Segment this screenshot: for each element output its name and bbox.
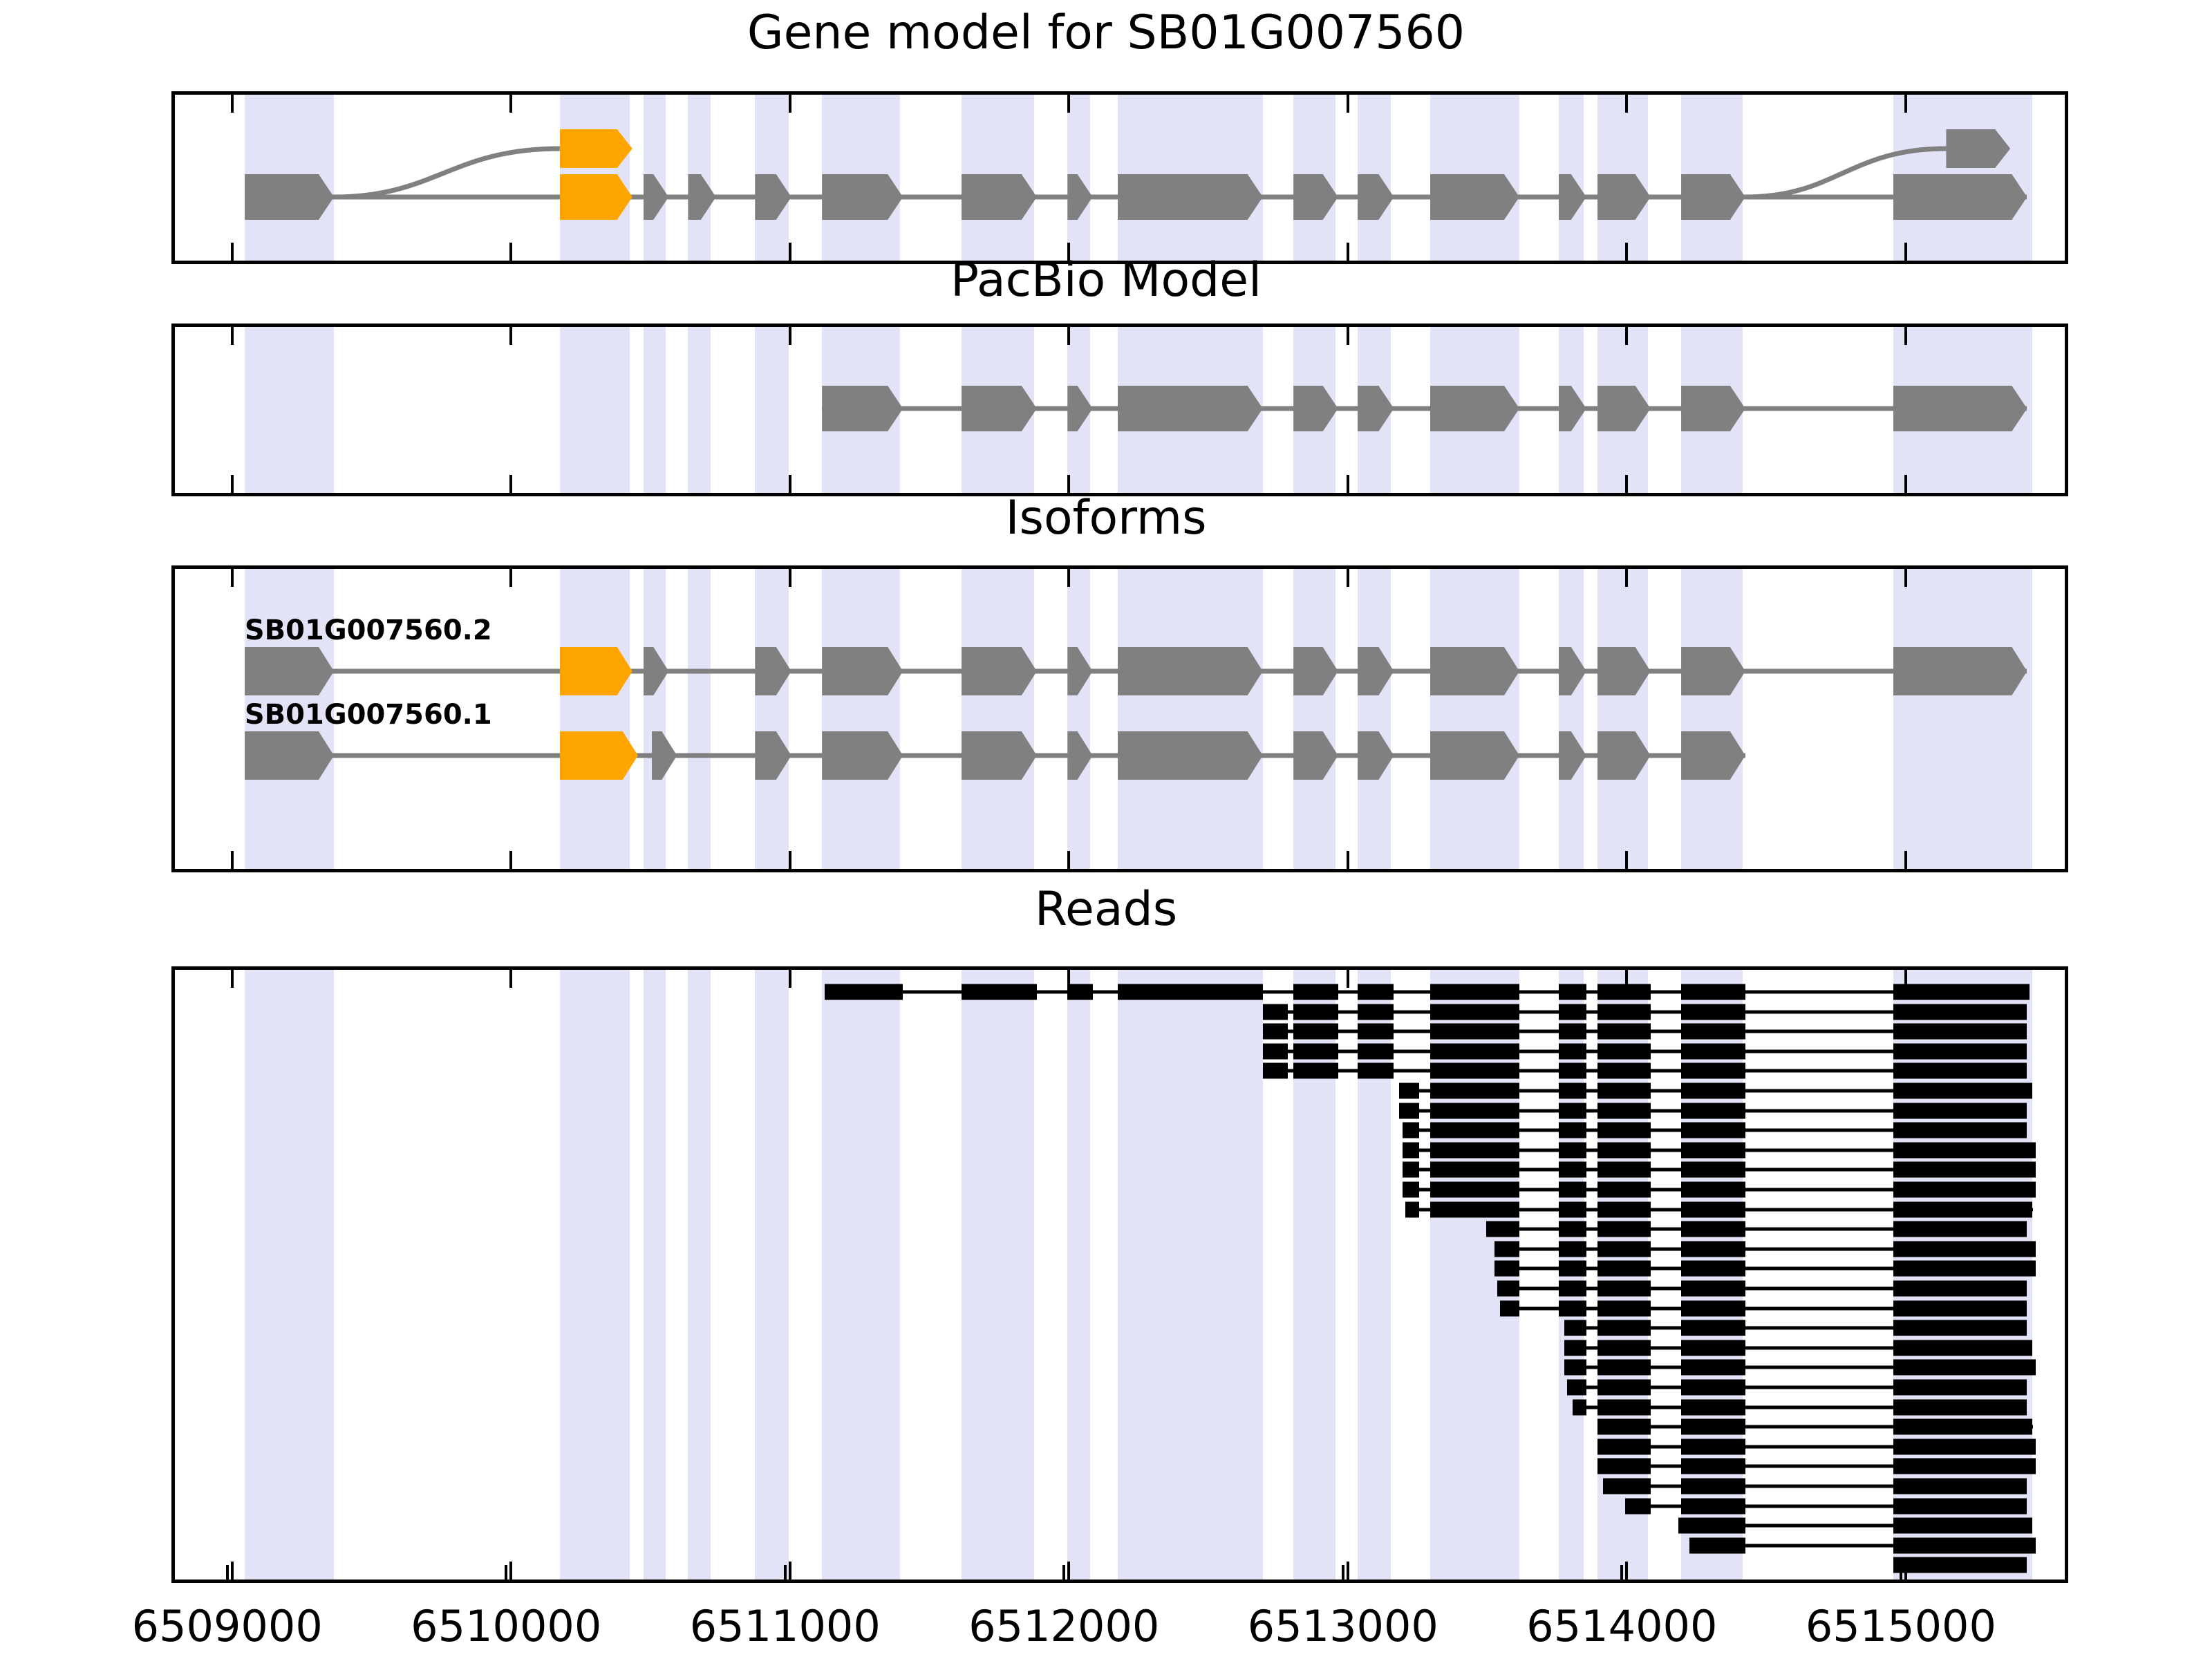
axis-tick-bottom[interactable] [1347, 475, 1349, 493]
read-exon-block [1597, 1083, 1651, 1099]
read-exon-block [1430, 1123, 1519, 1138]
axis-tick-top [1067, 327, 1070, 345]
read-exon-block [1681, 1063, 1745, 1079]
read-exon-block [1893, 1360, 2036, 1376]
read-exon-block [1559, 1300, 1586, 1316]
axis-tick-bottom[interactable] [509, 475, 512, 493]
read-exon-block [1893, 1043, 2027, 1059]
read-exon-block [1559, 1241, 1586, 1257]
exon-band [962, 970, 1034, 1580]
axis-tick-top [789, 327, 791, 345]
exon-band [1893, 569, 2033, 869]
axis-tick-top [509, 327, 512, 345]
read-exon-block [1893, 1300, 2027, 1316]
read-exon-block [1893, 1261, 2036, 1277]
read-exon-block [1893, 1438, 2036, 1454]
cds-exon [822, 647, 903, 695]
exon-band [1118, 569, 1263, 869]
read-exon-block [1681, 984, 1745, 1000]
read-exon-block [1681, 1340, 1745, 1356]
x-axis-tick [1062, 1565, 1065, 1583]
utr-exon [560, 731, 638, 780]
read-exon-block [1893, 1103, 2027, 1118]
axis-tick-top [789, 970, 791, 988]
read-exon-block [1430, 1142, 1519, 1158]
read-exon-block [1430, 1201, 1519, 1217]
axis-tick-top [1067, 95, 1070, 113]
axis-tick-bottom[interactable] [1625, 1562, 1628, 1580]
axis-tick-top [789, 569, 791, 587]
cds-exon [245, 731, 334, 780]
x-axis-tick [226, 1565, 229, 1583]
read-exon-block [1263, 1043, 1288, 1059]
axis-tick-bottom[interactable] [789, 851, 791, 869]
read-exon-block [1263, 1024, 1288, 1040]
axis-tick-top [1067, 569, 1070, 587]
read-exon-block [1893, 1399, 2027, 1415]
read-exon-block [1597, 1300, 1651, 1316]
read-exon-block [1597, 1043, 1651, 1059]
read-exon-block [1597, 1004, 1651, 1020]
cds-exon [1430, 386, 1519, 431]
axes-pacbio-model [171, 324, 2068, 496]
exon-band [755, 569, 788, 869]
cds-exon [1118, 386, 1263, 431]
exon-band [1358, 970, 1391, 1580]
axis-tick-top [1347, 970, 1349, 988]
panel-title-pacbio-model: PacBio Model [0, 257, 2212, 304]
exon-band [1559, 569, 1584, 869]
x-axis-tick-label: 6514000 [1526, 1601, 1717, 1651]
figure-root: Gene model for SB01G007560PacBio ModelIs… [0, 0, 2212, 1659]
read-exon-block [1678, 1518, 1745, 1534]
axis-tick-top [231, 327, 234, 345]
cds-exon [962, 386, 1037, 431]
read-exon-block [1681, 1360, 1745, 1376]
x-axis-tick [1900, 1565, 1902, 1583]
read-exon-block [1430, 1043, 1519, 1059]
read-exon-block [1430, 1083, 1519, 1099]
read-exon-block [1358, 1024, 1394, 1040]
read-exon-block [1681, 1103, 1745, 1118]
cds-exon [688, 174, 715, 220]
exon-band [1293, 569, 1335, 869]
read-exon-block [1681, 1459, 1745, 1474]
axis-tick-top [509, 970, 512, 988]
read-exon-block [1597, 1024, 1651, 1040]
exon-band [1293, 970, 1335, 1580]
read-exon-block [1625, 1498, 1650, 1514]
isoform-label: SB01G007560.1 [245, 699, 492, 731]
read-exon-block [1559, 1083, 1586, 1099]
read-exon-block [1893, 1004, 2027, 1020]
cds-exon [1118, 647, 1263, 695]
read-exon-block [1573, 1399, 1586, 1415]
read-exon-block [1559, 1103, 1586, 1118]
read-exon-block [1559, 1281, 1586, 1297]
x-axis-tick [505, 1565, 507, 1583]
read-exon-block [1358, 984, 1394, 1000]
axis-tick-bottom[interactable] [1347, 851, 1349, 869]
x-axis-tick [1620, 1565, 1623, 1583]
read-exon-block [1559, 1024, 1586, 1040]
exon-band [644, 569, 666, 869]
read-exon-block [1430, 984, 1519, 1000]
read-exon-block [1597, 1103, 1651, 1118]
exon-band [1118, 970, 1263, 1580]
exon-band [1597, 569, 1648, 869]
read-exon-block [1559, 1123, 1586, 1138]
cds-exon [1430, 731, 1519, 780]
read-exon-block [1597, 1438, 1651, 1454]
read-exon-block [1681, 1281, 1745, 1297]
cds-exon [1893, 174, 2027, 220]
read-exon-block [1494, 1261, 1519, 1277]
read-exon-block [1494, 1241, 1519, 1257]
cds-exon [822, 386, 903, 431]
cds-exon [962, 731, 1037, 780]
read-exon-block [1597, 1320, 1651, 1336]
read-exon-block [1597, 1201, 1651, 1217]
read-exon-block [1893, 1419, 2033, 1435]
axis-tick-bottom[interactable] [509, 851, 512, 869]
read-exon-block [1430, 1063, 1519, 1079]
read-exon-block [1564, 1360, 1586, 1376]
cds-exon [1118, 174, 1263, 220]
exon-band [560, 970, 630, 1580]
cds-exon [1893, 386, 2027, 431]
axis-tick-top [1904, 95, 1907, 113]
exon-band [822, 569, 900, 869]
exon-band [822, 970, 900, 1580]
axis-tick-top [1904, 327, 1907, 345]
read-exon-block [1893, 1498, 2027, 1514]
read-exon-block [1358, 1063, 1394, 1079]
read-exon-block [1689, 1537, 1745, 1553]
x-axis-tick-label: 6509000 [132, 1601, 323, 1651]
cds-exon [962, 647, 1037, 695]
read-exon-block [1893, 984, 2030, 1000]
read-exon-block [1681, 1380, 1745, 1396]
axis-tick-bottom[interactable] [509, 1562, 512, 1580]
read-exon-block [1681, 1024, 1745, 1040]
exon-band [962, 569, 1034, 869]
axis-tick-top [1625, 569, 1628, 587]
axis-tick-bottom[interactable] [231, 475, 234, 493]
read-exon-block [1597, 984, 1651, 1000]
cds-exon [245, 647, 334, 695]
read-exon-block [1893, 1063, 2027, 1079]
exon-band [755, 327, 788, 493]
exon-band [1067, 569, 1089, 869]
read-exon-block [1681, 1142, 1745, 1158]
read-exon-block [1486, 1221, 1519, 1237]
read-exon-block [1893, 1123, 2027, 1138]
read-exon-block [1559, 1043, 1586, 1059]
read-exon-block [1893, 1557, 2027, 1573]
read-exon-block [1603, 1479, 1651, 1494]
read-exon-block [1681, 1498, 1745, 1514]
read-exon-block [1597, 1142, 1651, 1158]
read-exon-block [1681, 1300, 1745, 1316]
axis-tick-top [231, 569, 234, 587]
read-exon-block [1263, 1063, 1288, 1079]
read-exon-block [1597, 1123, 1651, 1138]
read-exon-block [1597, 1182, 1651, 1198]
read-exon-block [1893, 1479, 2027, 1494]
read-exon-block [1893, 1221, 2027, 1237]
read-exon-block [1893, 1380, 2027, 1396]
read-exon-block [1559, 1142, 1586, 1158]
read-exon-block [1597, 1399, 1651, 1415]
read-exon-block [1597, 1380, 1651, 1396]
axis-tick-bottom[interactable] [789, 475, 791, 493]
exon-band [644, 327, 666, 493]
read-exon-block [1399, 1083, 1418, 1099]
read-exon-block [1681, 1320, 1745, 1336]
exon-band [1681, 569, 1743, 869]
exon-band [1430, 569, 1519, 869]
exon-band [688, 970, 710, 1580]
read-exon-block [1559, 1261, 1586, 1277]
read-exon-block [1358, 1043, 1394, 1059]
read-exon-block [1500, 1300, 1519, 1316]
read-exon-block [1893, 1241, 2036, 1257]
x-axis-tick [1342, 1565, 1344, 1583]
read-exon-block [1358, 1004, 1394, 1020]
cds-exon [1893, 647, 2027, 695]
panel-title-isoforms: Isoforms [0, 495, 2212, 542]
axis-tick-top [1347, 95, 1349, 113]
axis-tick-top [1347, 569, 1349, 587]
cds-exon [245, 174, 334, 220]
read-exon-block [1893, 1459, 2036, 1474]
read-exon-block [1559, 1201, 1586, 1217]
axis-tick-top [1904, 569, 1907, 587]
read-exon-block [1597, 1281, 1651, 1297]
axis-tick-bottom[interactable] [1347, 1562, 1349, 1580]
read-exon-block [1403, 1182, 1419, 1198]
x-axis-tick-label: 6511000 [690, 1601, 881, 1651]
read-exon-block [1597, 1241, 1651, 1257]
exon-band [245, 970, 334, 1580]
read-exon-block [825, 984, 903, 1000]
cds-exon [822, 174, 903, 220]
axis-tick-bottom[interactable] [1625, 851, 1628, 869]
axis-tick-bottom[interactable] [1067, 851, 1070, 869]
axis-tick-top [509, 95, 512, 113]
axes-isoforms: SB01G007560.2SB01G007560.1 [171, 565, 2068, 872]
cds-exon [962, 174, 1037, 220]
exon-band [644, 970, 666, 1580]
read-exon-block [1681, 1479, 1745, 1494]
read-exon-block [1293, 1043, 1338, 1059]
read-exon-block [1263, 1004, 1288, 1020]
cds-exon [1430, 647, 1519, 695]
read-exon-block [1681, 1083, 1745, 1099]
read-exon-block [1559, 984, 1586, 1000]
axis-tick-bottom[interactable] [789, 1562, 791, 1580]
cds-exon [822, 731, 903, 780]
utr-exon [560, 647, 632, 695]
exon-band [1358, 569, 1391, 869]
isoform-label: SB01G007560.2 [245, 615, 492, 646]
read-exon-block [1118, 984, 1263, 1000]
exon-band [755, 970, 788, 1580]
read-exon-block [1293, 1063, 1338, 1079]
read-exon-block [1430, 1004, 1519, 1020]
read-exon-block [1597, 1459, 1651, 1474]
read-exon-block [1597, 1419, 1651, 1435]
read-exon-block [1597, 1221, 1651, 1237]
read-exon-block [1430, 1162, 1519, 1178]
read-exon-block [1430, 1024, 1519, 1040]
exon-band [1067, 970, 1089, 1580]
read-exon-block [1597, 1063, 1651, 1079]
read-exon-block [1893, 1083, 2033, 1099]
read-exon-block [1403, 1142, 1419, 1158]
axis-tick-top [1347, 327, 1349, 345]
exon-band [688, 327, 710, 493]
exon-band [560, 327, 630, 493]
read-exon-block [1597, 1162, 1651, 1178]
x-axis-tick [784, 1565, 787, 1583]
exon-band [688, 569, 710, 869]
utr-exon-alt [560, 129, 632, 168]
read-exon-block [1403, 1162, 1419, 1178]
exon-band [560, 569, 630, 869]
read-exon-block [1681, 1221, 1745, 1237]
read-exon-block [1893, 1537, 2036, 1553]
read-exon-block [1430, 1182, 1519, 1198]
read-exon-block [1559, 1004, 1586, 1020]
read-exon-block [1559, 1063, 1586, 1079]
read-exon-block [1681, 1182, 1745, 1198]
read-exon-block [1893, 1281, 2027, 1297]
axes-gene-model [171, 91, 2068, 264]
cds-exon [1430, 174, 1519, 220]
read-exon-block [1559, 1182, 1586, 1198]
axis-tick-bottom[interactable] [1625, 475, 1628, 493]
read-exon-block [962, 984, 1037, 1000]
read-exon-block [1405, 1201, 1419, 1217]
read-exon-block [1893, 1320, 2027, 1336]
read-exon-block [1597, 1340, 1651, 1356]
read-exon-block [1681, 1043, 1745, 1059]
x-axis-tick-label: 6515000 [1806, 1601, 1996, 1651]
read-exon-block [1564, 1340, 1586, 1356]
utr-exon [560, 174, 632, 220]
read-exon-block [1597, 1360, 1651, 1376]
read-exon-block [1597, 1261, 1651, 1277]
x-axis-tick-label: 6513000 [1248, 1601, 1438, 1651]
read-exon-block [1893, 1340, 2033, 1356]
read-exon-block [1559, 1162, 1586, 1178]
read-exon-block [1893, 1142, 2036, 1158]
read-exon-block [1293, 984, 1338, 1000]
panel-title-gene-model: Gene model for SB01G007560 [0, 10, 2212, 57]
cds-exon [1118, 731, 1263, 780]
read-exon-block [1893, 1518, 2033, 1534]
read-exon-block [1681, 1241, 1745, 1257]
x-axis-tick-label: 6512000 [968, 1601, 1159, 1651]
axis-tick-bottom[interactable] [231, 851, 234, 869]
axes-reads [171, 966, 2068, 1583]
read-exon-block [1559, 1221, 1586, 1237]
read-exon-block [1681, 1261, 1745, 1277]
read-exon-block [1564, 1320, 1586, 1336]
read-exon-block [1567, 1380, 1586, 1396]
axis-tick-top [231, 95, 234, 113]
axis-tick-top [1625, 95, 1628, 113]
read-exon-block [1399, 1103, 1418, 1118]
read-exon-block [1681, 1419, 1745, 1435]
read-exon-block [1681, 1004, 1745, 1020]
read-exon-block [1893, 1182, 2036, 1198]
read-exon-block [1497, 1281, 1519, 1297]
read-exon-block [1893, 1162, 2036, 1178]
read-exon-block [1293, 1024, 1338, 1040]
read-exon-block [1681, 1123, 1745, 1138]
read-exon-block [1893, 1201, 2033, 1217]
x-axis-tick-label: 6510000 [411, 1601, 601, 1651]
axis-tick-bottom[interactable] [231, 1562, 234, 1580]
read-exon-block [1681, 1162, 1745, 1178]
axis-tick-bottom[interactable] [1904, 475, 1907, 493]
exon-band [245, 327, 334, 493]
read-exon-block [1681, 1399, 1745, 1415]
axis-tick-top [789, 95, 791, 113]
cds-exon [652, 731, 677, 780]
axis-tick-bottom[interactable] [1067, 1562, 1070, 1580]
read-exon-block [1681, 1438, 1745, 1454]
read-exon-block [1403, 1123, 1419, 1138]
axis-tick-top [231, 970, 234, 988]
panel-title-reads: Reads [0, 886, 2212, 933]
read-exon-block [1293, 1004, 1338, 1020]
read-exon-block [1681, 1201, 1745, 1217]
axis-tick-top [1625, 327, 1628, 345]
axis-tick-top [509, 569, 512, 587]
read-exon-block [1067, 984, 1092, 1000]
read-exon-block [1893, 1024, 2027, 1040]
axis-tick-bottom[interactable] [1904, 851, 1907, 869]
read-exon-block [1430, 1103, 1519, 1118]
